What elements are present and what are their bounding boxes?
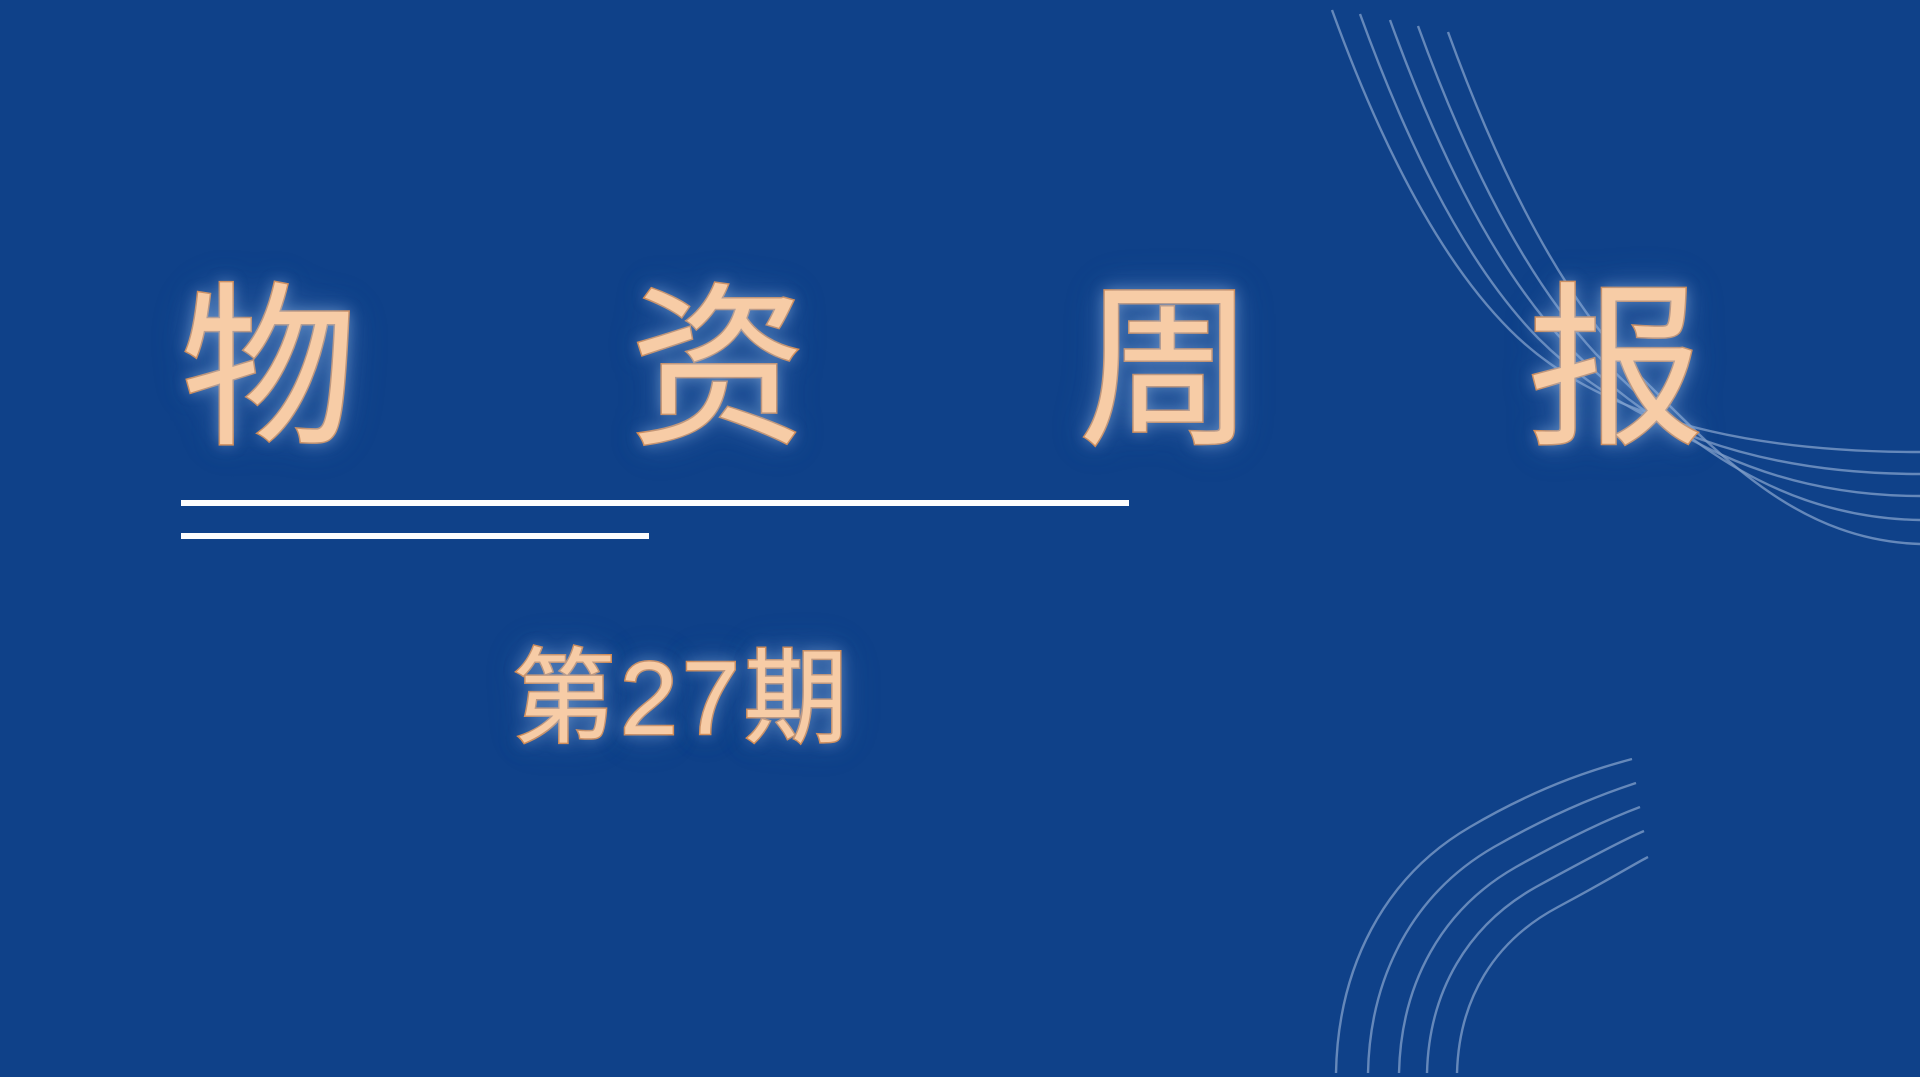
bottom-right-arc-lines bbox=[1280, 717, 1920, 1077]
arc-line-1 bbox=[1336, 759, 1632, 1073]
arc-line-5 bbox=[1457, 857, 1648, 1073]
issue-subtitle: 第27期 bbox=[512, 637, 852, 762]
cover-slide: 物 资 周 报 第27期 bbox=[0, 0, 1920, 1077]
title-underline-short bbox=[181, 533, 649, 539]
title-block: 物 资 周 报 bbox=[181, 282, 1181, 482]
subtitle-block: 第27期 bbox=[512, 637, 852, 762]
arc-line-2 bbox=[1368, 783, 1636, 1073]
title-underline-long bbox=[181, 500, 1129, 506]
page-title: 物 资 周 报 bbox=[181, 282, 1181, 482]
arc-line-4 bbox=[1427, 831, 1644, 1073]
arc-line-3 bbox=[1399, 807, 1640, 1073]
